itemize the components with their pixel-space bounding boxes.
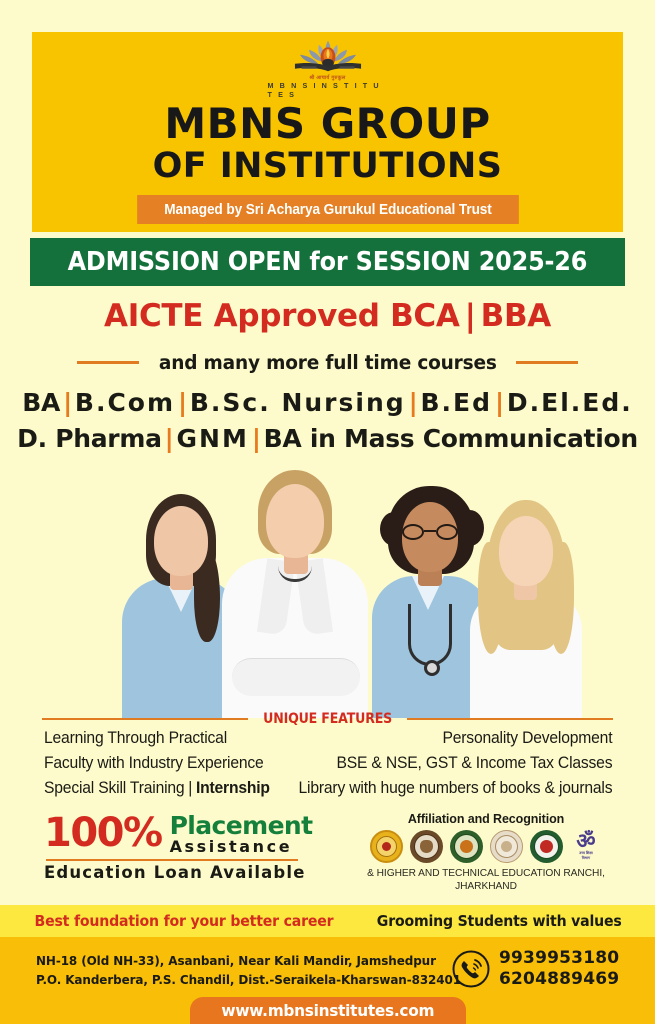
phone-number-1[interactable]: 9939953180 — [499, 948, 619, 969]
institute-title-line2: OF INSTITUTIONS — [153, 147, 503, 186]
rule-left — [77, 361, 139, 364]
placement-block: 100% Placement Assistance Education Loan… — [44, 812, 334, 883]
logo-wordmark: M B N S I N S T I T U T E S — [268, 81, 388, 99]
department-caption-2: विभाग — [582, 856, 590, 860]
glasses-bridge — [424, 530, 436, 532]
phone-block[interactable]: 9939953180 6204889469 — [452, 948, 619, 990]
course-dpharma: D. Pharma — [17, 424, 162, 453]
course-deled: D.El.Ed. — [507, 388, 633, 417]
unique-features-label: UNIQUE FEATURES — [263, 711, 392, 727]
feature-skill-training: Special Skill Training — [44, 779, 184, 797]
department-glyph: ॐ — [576, 833, 595, 851]
placement-text: Placement Assistance — [170, 812, 313, 856]
feature-item-internship: Special Skill Training|Internship — [44, 777, 270, 800]
course-sep: | — [492, 388, 507, 417]
aicte-emblem-icon — [370, 830, 403, 863]
admission-open-band: ADMISSION OPEN for SESSION 2025-26 — [30, 238, 625, 286]
nursing-council-emblem-icon — [450, 830, 483, 863]
feature-item: Personality Development — [298, 727, 612, 750]
students-photo-group — [110, 466, 550, 718]
unique-features-list: Learning Through Practical Faculty with … — [44, 727, 611, 800]
aicte-core — [382, 842, 391, 851]
tagline-band: Best foundation for your better career G… — [0, 905, 655, 937]
education-loan-label: Education Loan Available — [44, 863, 325, 883]
address-line-1: NH-18 (Old NH-33), Asanbani, Near Kali M… — [36, 951, 426, 970]
assistance-word: Assistance — [170, 838, 313, 856]
course-bed: B.Ed — [421, 388, 493, 417]
phone-numbers[interactable]: 9939953180 6204889469 — [499, 948, 619, 990]
course-sep: | — [249, 424, 264, 453]
feature-item: Faculty with Industry Experience — [44, 752, 270, 775]
headline-separator: | — [460, 298, 481, 334]
unique-features-header: UNIQUE FEATURES — [42, 711, 613, 727]
course-ba-mass-comm: BA in Mass Communication — [264, 424, 638, 453]
feature-item: Library with huge numbers of books & jou… — [298, 777, 612, 800]
contact-footer: NH-18 (Old NH-33), Asanbani, Near Kali M… — [0, 937, 655, 1024]
tagline-dark: Grooming Students with values — [377, 912, 622, 930]
jharkhand-govt-emblem-icon — [530, 830, 563, 863]
student-1-face — [154, 506, 208, 576]
course-sep: | — [175, 388, 190, 417]
uf-rule-right — [407, 718, 613, 721]
and-more-courses-row: and many more full time courses — [0, 351, 655, 374]
rule-right — [516, 361, 578, 364]
student-2-folded-arms — [232, 658, 360, 696]
affiliation-block: Affiliation and Recognition ॐ उच्च शिक्ष… — [348, 812, 624, 893]
pharmacy-core — [501, 841, 512, 852]
ringing-phone-icon — [452, 950, 490, 988]
student-2-face — [266, 484, 324, 558]
placement-percent: 100% — [44, 812, 162, 854]
website-pill[interactable]: www.mbnsinstitutes.com — [190, 997, 466, 1024]
glasses-lens-right — [436, 524, 458, 540]
course-sep: | — [406, 388, 421, 417]
institute-logo: श्री आचार्य गुरुकुल M B N S I N S T I T … — [268, 39, 388, 99]
feature-sep: | — [184, 779, 195, 797]
uf-rule-left — [42, 718, 248, 721]
admission-poster: श्री आचार्य गुरुकुल M B N S I N S T I T … — [0, 0, 655, 1024]
student-3-stethoscope-disc — [424, 660, 440, 676]
aicte-bca-label: AICTE Approved BCA — [104, 298, 460, 334]
student-photo-4 — [466, 500, 586, 718]
features-right-column: Personality Development BSE & NSE, GST &… — [282, 727, 612, 800]
university-emblem-icon — [410, 830, 443, 863]
affiliation-subtitle-line1: & HIGHER AND TECHNICAL EDUCATION RANCHI, — [367, 868, 605, 879]
lotus-flame-book-emblem — [274, 39, 382, 77]
course-bsc-nursing: B.Sc. Nursing — [190, 388, 406, 417]
address-line-2: P.O. Kanderbera, P.S. Chandil, Dist.-Ser… — [36, 970, 426, 989]
tagline-red: Best foundation for your better career — [35, 912, 334, 930]
student-photo-2 — [214, 470, 374, 718]
placement-divider — [46, 859, 298, 861]
managed-by-band: Managed by Sri Acharya Gurukul Education… — [137, 195, 519, 224]
phone-number-2[interactable]: 6204889469 — [499, 969, 619, 990]
course-sep: | — [60, 388, 75, 417]
and-more-label: and many more full time courses — [159, 351, 497, 374]
poster-header: श्री आचार्य गुरुकुल M B N S I N S T I T … — [32, 32, 623, 232]
features-left-column: Learning Through Practical Faculty with … — [44, 727, 282, 800]
course-ba: BA — [22, 388, 60, 417]
institute-title-line1: MBNS GROUP — [164, 102, 490, 146]
feature-internship: Internship — [196, 779, 270, 797]
pharmacy-council-emblem-icon — [490, 830, 523, 863]
jharkhand-core — [540, 840, 553, 853]
university-core — [420, 840, 433, 853]
student-3-stethoscope — [408, 604, 452, 666]
affiliation-subtitle-line2: JHARKHAND — [455, 881, 517, 892]
course-gnm: GNM — [177, 424, 249, 453]
bba-label: BBA — [481, 298, 551, 334]
affiliation-logos: ॐ उच्च शिक्षा विभाग — [348, 830, 624, 863]
glasses-lens-left — [402, 524, 424, 540]
student-4-face — [499, 516, 553, 586]
department-emblem-icon: ॐ उच्च शिक्षा विभाग — [570, 830, 603, 863]
placement-row: 100% Placement Assistance — [44, 812, 334, 856]
nursing-core — [460, 840, 473, 853]
course-sep: | — [162, 424, 177, 453]
placement-word: Placement — [170, 813, 313, 838]
affiliation-title: Affiliation and Recognition — [348, 812, 624, 826]
affiliation-subtitle: & HIGHER AND TECHNICAL EDUCATION RANCHI,… — [348, 868, 624, 893]
website-url[interactable]: www.mbnsinstitutes.com — [221, 1001, 434, 1020]
aicte-headline: AICTE Approved BCA|BBA — [0, 298, 655, 334]
admission-open-text: ADMISSION OPEN for SESSION 2025-26 — [68, 247, 588, 277]
feature-item: BSE & NSE, GST & Income Tax Classes — [298, 752, 612, 775]
student-3-glasses-icon — [402, 524, 458, 540]
address-block: NH-18 (Old NH-33), Asanbani, Near Kali M… — [36, 951, 446, 989]
course-bcom: B.Com — [75, 388, 175, 417]
course-row-1: BA|B.Com|B.Sc. Nursing|B.Ed|D.El.Ed. — [0, 388, 655, 417]
feature-item: Learning Through Practical — [44, 727, 270, 750]
course-row-2: D. Pharma|GNM|BA in Mass Communication — [0, 424, 655, 453]
